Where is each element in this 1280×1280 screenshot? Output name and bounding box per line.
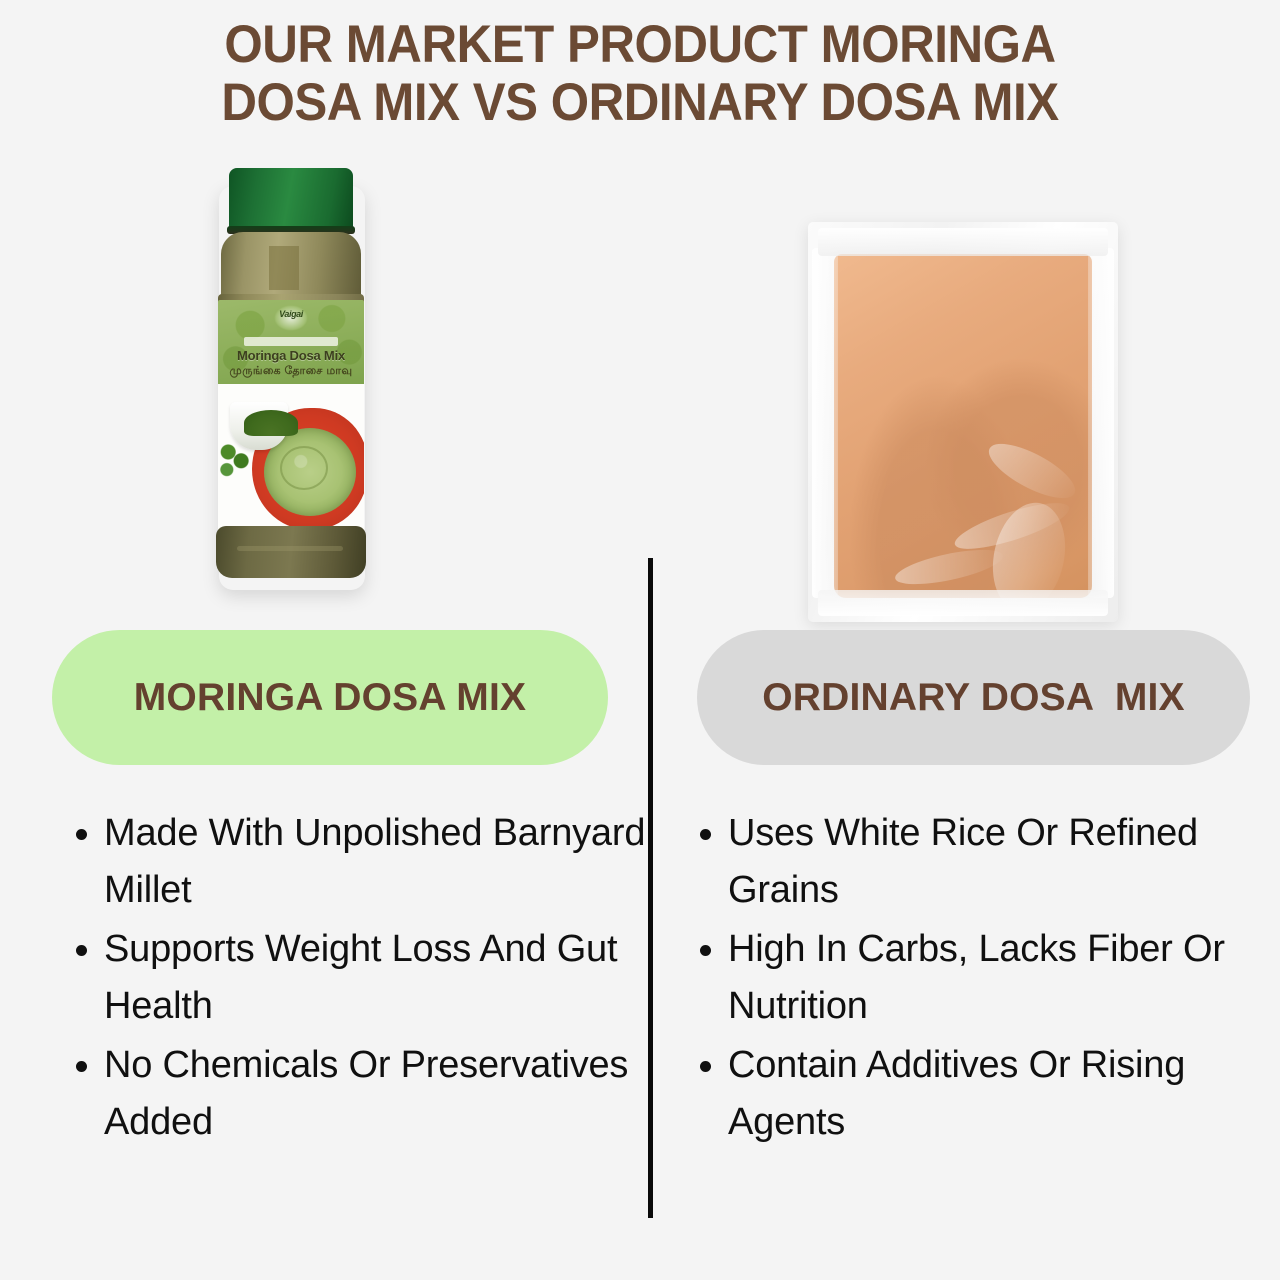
ordinary-drawbacks-items: Uses White Rice Or Refined Grains High I… xyxy=(682,805,1262,1151)
bottle-neck-band xyxy=(269,246,299,290)
dosa-swirl xyxy=(280,446,328,490)
moringa-dosa-mix-label-text: MORINGA DOSA MIX xyxy=(134,676,526,720)
vertical-divider xyxy=(648,558,653,1218)
bottle-label-photo xyxy=(218,384,364,538)
bottle-base-ridge xyxy=(237,546,343,551)
packet-crease xyxy=(892,543,1005,591)
moringa-powder xyxy=(244,410,298,436)
page-title-line-2: DOSA MIX VS ORDINARY DOSA MIX xyxy=(45,74,1235,132)
packet-powder-fill xyxy=(834,254,1092,598)
packet-left-edge xyxy=(812,248,838,598)
packet-bottom-seal xyxy=(818,590,1108,616)
bottle-label: Vaigai Moringa Dosa Mix முருங்கை தோசை மா… xyxy=(218,300,364,538)
page-title-line-1: OUR MARKET PRODUCT MORINGA xyxy=(45,16,1235,74)
ordinary-dosa-mix-label-text: ORDINARY DOSA MIX xyxy=(762,676,1185,720)
ordinary-drawbacks-list: Uses White Rice Or Refined Grains High I… xyxy=(682,805,1262,1153)
moringa-dosa-mix-label-pill: MORINGA DOSA MIX xyxy=(52,630,608,765)
list-item: No Chemicals Or Preservatives Added xyxy=(104,1037,648,1151)
page-title: OUR MARKET PRODUCT MORINGA DOSA MIX VS O… xyxy=(0,16,1280,132)
list-item: Supports Weight Loss And Gut Health xyxy=(104,921,648,1035)
bottle-label-title: Moringa Dosa Mix xyxy=(218,348,364,363)
list-item: Contain Additives Or Rising Agents xyxy=(728,1037,1262,1151)
packet-right-edge xyxy=(1088,248,1114,598)
moringa-benefits-items: Made With Unpolished Barnyard Millet Sup… xyxy=(58,805,648,1151)
list-item: High In Carbs, Lacks Fiber Or Nutrition xyxy=(728,921,1262,1035)
list-item: Uses White Rice Or Refined Grains xyxy=(728,805,1262,919)
bottle-label-subtitle: முருங்கை தோசை மாவு xyxy=(218,365,364,379)
bottle-label-strip xyxy=(244,337,338,346)
bottle-base xyxy=(216,526,366,578)
powder-bowl xyxy=(230,402,288,450)
brand-logo-text: Vaigai xyxy=(279,309,303,319)
moringa-dosa-mix-bottle-image: Vaigai Moringa Dosa Mix முருங்கை தோசை மா… xyxy=(213,168,368,593)
list-item: Made With Unpolished Barnyard Millet xyxy=(104,805,648,919)
moringa-benefits-list: Made With Unpolished Barnyard Millet Sup… xyxy=(58,805,648,1153)
ordinary-dosa-mix-label-pill: ORDINARY DOSA MIX xyxy=(697,630,1250,765)
bottle-cap xyxy=(229,168,353,231)
packet-crease xyxy=(982,433,1083,508)
packet-top-seal xyxy=(818,228,1108,256)
product-image-row: Vaigai Moringa Dosa Mix முருங்கை தோசை மா… xyxy=(0,150,1280,630)
ordinary-dosa-mix-packet-image xyxy=(808,222,1118,622)
